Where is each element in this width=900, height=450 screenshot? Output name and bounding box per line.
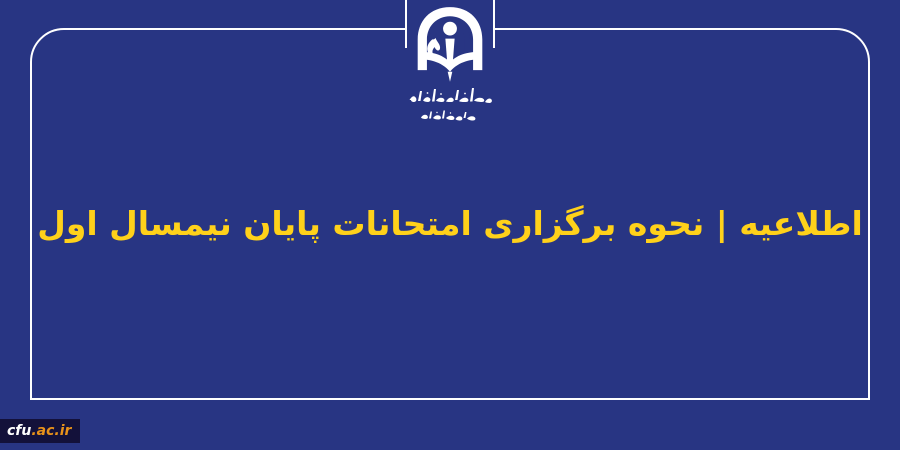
university-logo	[404, 4, 496, 130]
university-name-mark	[407, 85, 493, 107]
watermark-domain: .ac.ir	[31, 419, 71, 443]
university-province-mark	[419, 107, 481, 123]
site-watermark: cfu.ac.ir	[0, 419, 80, 443]
announcement-poster: اطلاعیه | نحوه برگزاری امتحانات پایان نی…	[0, 0, 900, 450]
university-crest-icon	[411, 4, 489, 84]
watermark-name: cfu	[7, 419, 31, 443]
page-title: اطلاعیه | نحوه برگزاری امتحانات پایان نی…	[0, 198, 900, 250]
